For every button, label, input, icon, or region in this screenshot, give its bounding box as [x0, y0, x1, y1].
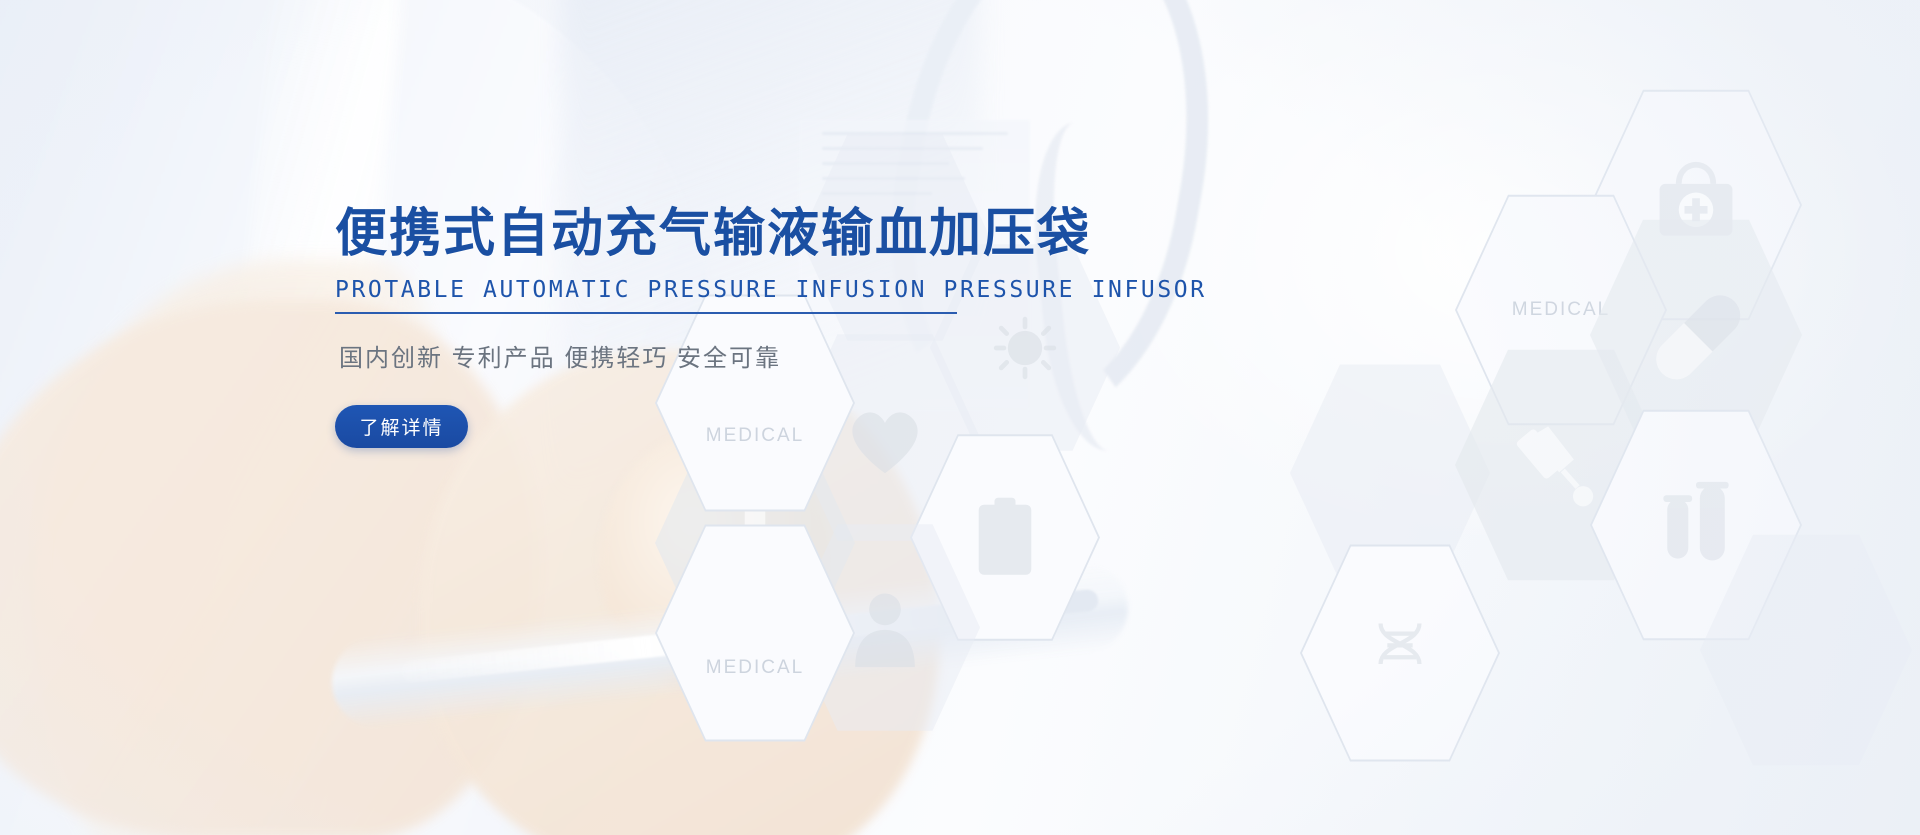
product-hero-banner: MEDICAL MEDICAL	[0, 0, 1920, 835]
learn-more-button[interactable]: 了解详情	[335, 405, 468, 448]
page-title: 便携式自动充气输液输血加压袋	[335, 205, 995, 265]
tagline: 国内创新 专利产品 便携轻巧 安全可靠	[339, 338, 995, 373]
product-image-group: Pcl-Link®普创科技 500mL Pressure Infusor 输液输…	[1080, 0, 1920, 835]
subtitle-english: PROTABLE AUTOMATIC PRESSURE INFUSION PRE…	[335, 277, 957, 314]
banner-copy-block: 便携式自动充气输液输血加压袋 PROTABLE AUTOMATIC PRESSU…	[335, 205, 995, 448]
